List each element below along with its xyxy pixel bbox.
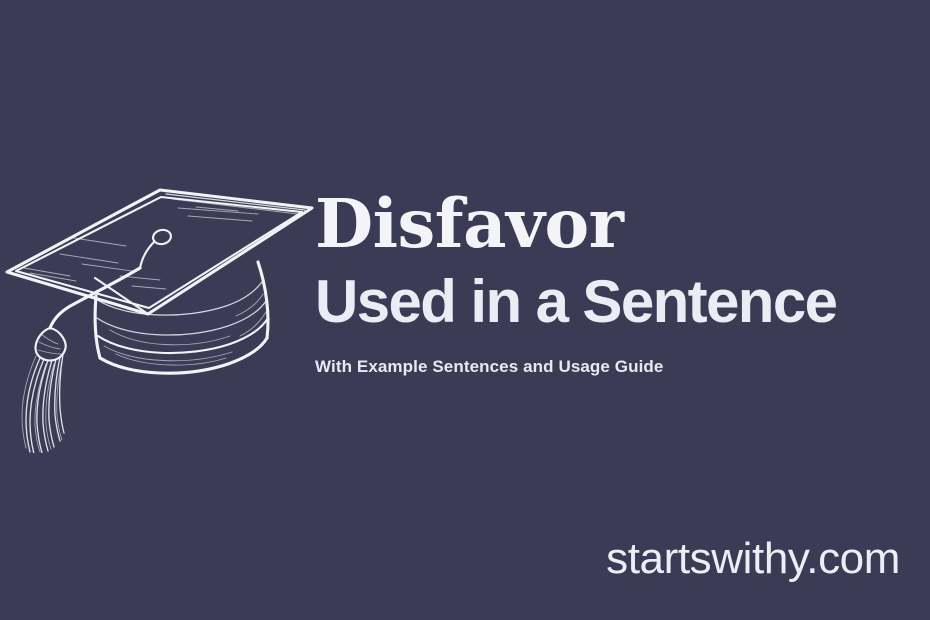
- graduation-cap-sketch-icon: [0, 168, 320, 453]
- page-title-word: Disfavor: [315, 186, 915, 262]
- headline-block: Disfavor Used in a Sentence With Example…: [315, 186, 915, 378]
- word-card-banner: Disfavor Used in a Sentence With Example…: [0, 0, 930, 620]
- brand-domain-label: startswithy.com: [606, 534, 900, 584]
- page-title-phrase: Used in a Sentence: [315, 268, 915, 336]
- page-subtitle-tagline: With Example Sentences and Usage Guide: [315, 356, 915, 378]
